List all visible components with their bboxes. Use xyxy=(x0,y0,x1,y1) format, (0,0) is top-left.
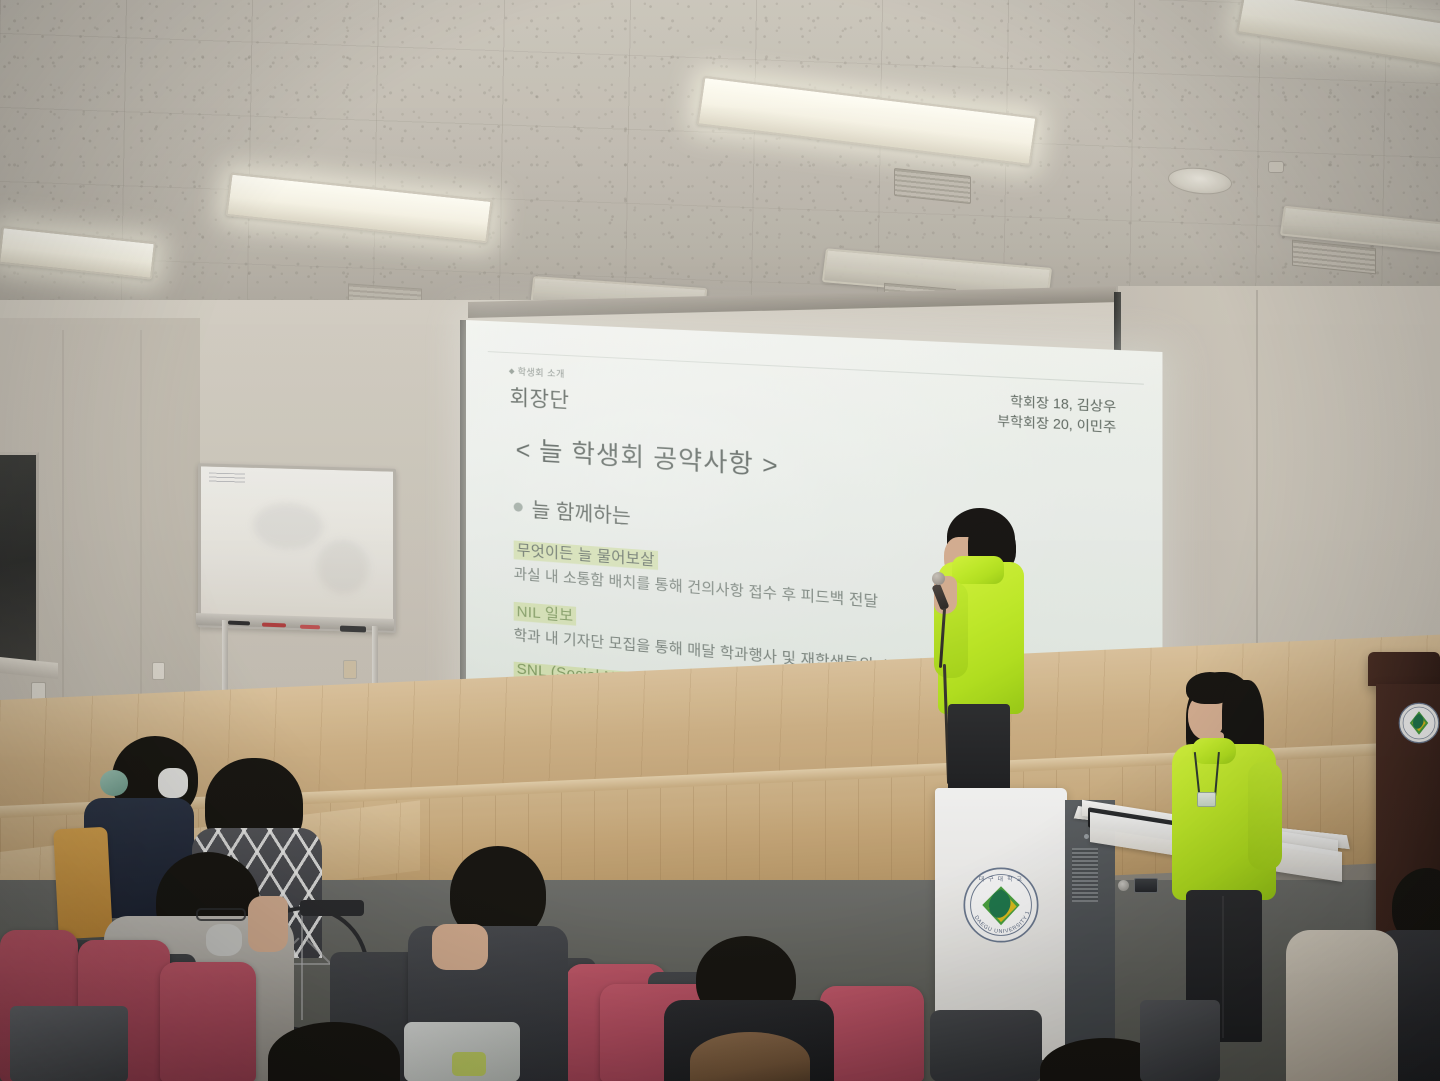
lectern-vent xyxy=(1072,848,1098,902)
audience-head xyxy=(690,1032,810,1081)
face-mask xyxy=(158,768,188,798)
auditorium-seat xyxy=(820,986,924,1081)
hair-scrunchie xyxy=(100,770,128,796)
slide-kicker-label: 학생회 소개 xyxy=(518,365,565,381)
audience-hand xyxy=(432,924,488,970)
kicker-bullet-icon xyxy=(509,368,515,374)
sprinkler-head-icon xyxy=(1268,161,1284,173)
presenter-jacket-collar xyxy=(1192,738,1236,764)
audience-hoodie xyxy=(1286,930,1398,1081)
whiteboard xyxy=(198,463,396,633)
whiteboard-smudge xyxy=(317,540,369,595)
wooden-chair xyxy=(53,827,113,940)
bullet-dot-icon xyxy=(514,502,523,512)
university-seal-icon xyxy=(1398,702,1440,744)
university-seal-icon: 대 구 대 학 교 DAEGU UNIVERSITY 1956 xyxy=(962,866,1040,944)
wooden-lectern-top xyxy=(1368,652,1440,686)
window xyxy=(0,452,39,669)
microphone-icon xyxy=(932,572,945,585)
face-mask xyxy=(206,924,242,956)
backpack xyxy=(1140,1000,1220,1081)
id-badge xyxy=(1197,792,1216,807)
wall-seam xyxy=(62,330,64,750)
wall-outlet xyxy=(152,662,165,680)
lectern-keyswitch[interactable] xyxy=(1118,880,1129,891)
presenter-trouser-crease xyxy=(1222,896,1224,1038)
presenter-sleeve xyxy=(1248,762,1282,870)
slide-bullet-label: 늘 함께하는 xyxy=(532,493,631,529)
eyeglasses-icon xyxy=(196,908,246,921)
whiteboard-marker xyxy=(262,623,286,628)
whiteboard-writing xyxy=(209,473,245,485)
whiteboard-marker xyxy=(300,625,320,630)
presenter-jacket-collar xyxy=(952,556,1004,584)
wall-outlet xyxy=(343,660,357,679)
auditorium-seat-back xyxy=(930,1010,1042,1081)
presenter-trousers xyxy=(948,704,1010,800)
ceiling xyxy=(0,0,1440,330)
audience-hand xyxy=(248,896,288,952)
whiteboard-smudge xyxy=(253,502,323,550)
ceiling-tile-grid xyxy=(0,0,1440,330)
whiteboard-marker xyxy=(228,621,250,626)
slide-item-label: NIL 일보 xyxy=(514,598,577,626)
whiteboard-eraser xyxy=(340,626,366,633)
lectern-indicator-light[interactable] xyxy=(1084,834,1089,839)
auditorium-seat xyxy=(160,962,256,1081)
wheelchair-spoke xyxy=(301,910,303,1020)
backpack xyxy=(10,1006,128,1081)
plastic-bag-contents xyxy=(452,1052,486,1076)
lectern-power-switch[interactable] xyxy=(1134,878,1158,893)
wheelchair-frame xyxy=(300,900,364,916)
presentation-photo-scene: 학회장 18, 김상우 부학회장 20, 이민주 학생회 소개 회장단 < 늘 … xyxy=(0,0,1440,1081)
